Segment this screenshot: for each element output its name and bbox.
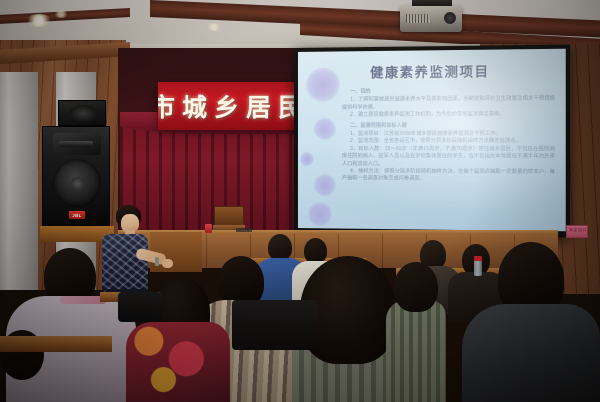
audience-chair-back	[118, 292, 162, 322]
slide-title: 健康素养监测项目	[298, 60, 566, 82]
slide-decoration-circle	[314, 118, 336, 140]
audience-torso-striped-olive	[386, 300, 446, 402]
speaker-cone	[69, 105, 97, 122]
water-bottle	[474, 260, 482, 276]
slide-paragraph: 3．目标人群：15～69岁（年满15周岁、不满70周岁）常住城乡居民，不包括在医…	[342, 146, 555, 169]
wall-column-left	[0, 72, 38, 290]
chair-back	[214, 206, 244, 226]
presenter-watch	[155, 257, 159, 266]
exit-sign-text: 安全出口	[567, 227, 589, 233]
projector-lens-icon	[444, 12, 456, 24]
slide-heading: 一、目的	[350, 87, 555, 96]
ceiling-spotlight	[26, 14, 52, 27]
ceiling-spotlight	[54, 10, 68, 18]
front-desk	[0, 336, 112, 352]
slide-paragraph: 2．建立居民健康素养监测工作机制，为今后的常规监测奠定基础。	[342, 111, 555, 119]
bottle-cap	[474, 256, 482, 261]
jbl-logo-text: JBL	[69, 211, 85, 219]
slide-paragraph: 2．监测范围：全省各设区市，按照分层多阶段随机抽样方法确定监测点。	[342, 138, 555, 146]
speaker-horn-slit	[59, 141, 93, 147]
speaker-top-unit	[58, 100, 106, 126]
presenter-floral-dress	[102, 234, 148, 292]
slide-paragraph: 1．了解和掌握居民健康素养水平及其影响因素，为制定和评价卫生政策及相关干预措施提…	[342, 96, 555, 112]
document-on-stage	[236, 228, 252, 232]
presenter-hand	[162, 259, 173, 268]
projection-screen: 健康素养监测项目 一、目的 1．了解和掌握居民健康素养水平及其影响因素，为制定和…	[298, 49, 566, 232]
speaker-horn	[53, 133, 101, 155]
red-cup	[205, 224, 212, 233]
conference-hall-photo: 徐州市城乡居民健康素养监测工作会议 健康素养监测项目 一、目的 1．了解和掌握居…	[0, 0, 600, 402]
slide-heading: 二、监测范围和目标人群	[350, 122, 555, 130]
slide-decoration-circle	[314, 174, 336, 196]
audience-torso-dark-jacket	[462, 304, 600, 402]
audience-head	[268, 234, 292, 261]
exit-sign: 安全出口	[566, 225, 588, 238]
slide-body: 一、目的 1．了解和掌握居民健康素养水平及其影响因素，为制定和评价卫生政策及相关…	[342, 84, 555, 184]
speaker-dust-cap	[71, 177, 84, 190]
slide-paragraph: 4．抽样方法：按照分层多阶段随机抽样方法，在每个监测点抽取一定数量的样本户，每户…	[342, 168, 555, 184]
slide-decoration-circle	[308, 202, 332, 226]
ceiling-spotlight	[206, 23, 222, 31]
jbl-logo-badge: JBL	[69, 211, 85, 219]
audience-head-olive-person	[394, 262, 438, 312]
audience-chair-back	[232, 300, 318, 350]
slide-decoration-circle	[300, 152, 314, 166]
speaker-woofer	[53, 159, 101, 207]
projector-vent	[406, 14, 430, 23]
audience-torso-floral	[126, 322, 230, 402]
projection-screen-frame: 健康素养监测项目 一、目的 1．了解和掌握居民健康素养水平及其影响因素，为制定和…	[294, 44, 570, 237]
